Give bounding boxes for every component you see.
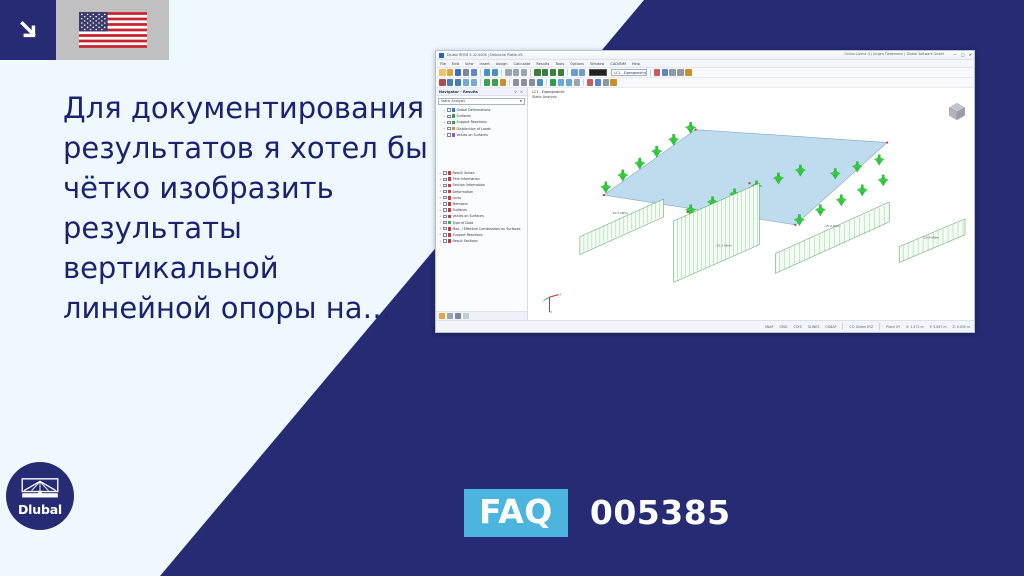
- toolbar-icon-cut[interactable]: [521, 69, 528, 76]
- expander-icon[interactable]: +: [439, 177, 442, 182]
- toolbar-primary[interactable]: LC1 - Eigengewicht: [436, 68, 974, 78]
- diagram-value-2: -15.3 kN/m: [715, 244, 732, 248]
- tree-item-label: Max. / Effective Combination on Surfaces: [453, 227, 521, 231]
- window-titlebar: Dlubal RFEM 5.32.0006 | Detusche Platte.…: [436, 51, 974, 60]
- faq-badge: FAQ: [464, 489, 568, 537]
- tree-item-icon: [448, 202, 452, 206]
- analysis-type-select[interactable]: Static Analysis ▼: [438, 98, 525, 105]
- tree-checkbox[interactable]: [447, 108, 450, 111]
- expander-icon[interactable]: +: [439, 214, 442, 219]
- tree-checkbox[interactable]: [443, 196, 446, 199]
- toolbar-icon-mesh[interactable]: [513, 79, 520, 86]
- tree-checkbox[interactable]: [443, 227, 446, 230]
- expander-icon[interactable]: +: [443, 120, 446, 125]
- diagram-value-1: -10.5 kN/m: [612, 211, 629, 215]
- chevron-down-icon[interactable]: ▼: [520, 99, 522, 103]
- tree-item-icon: [448, 177, 452, 181]
- expander-icon[interactable]: +: [439, 183, 442, 188]
- tree-item-label: Members: [453, 202, 468, 206]
- tree-item-icon: [448, 239, 452, 243]
- diagram-value-3: -15.9 kN/m: [824, 224, 841, 228]
- tree-checkbox[interactable]: [447, 127, 450, 130]
- dlubal-logo: Dlubal: [6, 462, 74, 530]
- toolbar-icon-open[interactable]: [447, 69, 454, 76]
- status-plane: Plane XY: [886, 325, 900, 329]
- tree-item-label: Deformation: [453, 190, 474, 194]
- expander-icon[interactable]: +: [439, 171, 442, 176]
- status-coord-system: CS: Global XYZ: [849, 325, 873, 329]
- faq-footer: FAQ 005385: [464, 489, 731, 537]
- toolbar-icon-isoline[interactable]: [566, 79, 573, 86]
- navigator-tab-results[interactable]: [463, 313, 469, 319]
- tree-item-values-on-surfaces[interactable]: + Values on Surfaces: [439, 132, 527, 138]
- navigator-title: Navigator - Results: [439, 90, 478, 94]
- tree-checkbox[interactable]: [443, 190, 446, 193]
- expander-icon[interactable]: +: [439, 201, 442, 206]
- tree-item-icon: [452, 127, 456, 131]
- analysis-type-value: Static Analysis: [441, 99, 465, 103]
- tree-checkbox[interactable]: [447, 133, 450, 136]
- toolbar-separator: [546, 79, 547, 86]
- tree-item-icon: [448, 208, 452, 212]
- tree-checkbox[interactable]: [443, 208, 446, 211]
- tree-item-result-sections[interactable]: + Result Sections: [439, 238, 527, 244]
- toolbar-separator: [480, 79, 481, 86]
- toolbar-icon-filter[interactable]: [610, 79, 617, 86]
- menu-cadbim[interactable]: CAD/BIM: [610, 62, 626, 66]
- toolbar-icon-undo[interactable]: [484, 69, 491, 76]
- toolbar-icon-isoband[interactable]: [558, 79, 565, 86]
- navigator-tab-views[interactable]: [455, 313, 461, 319]
- menu-insert[interactable]: Insert: [480, 62, 490, 66]
- toolbar-icon-pan[interactable]: [558, 69, 565, 76]
- toolbar-icon-print[interactable]: [463, 69, 470, 76]
- toolbar-icon-measure[interactable]: [537, 79, 544, 86]
- arrow-down-right-icon: [0, 0, 56, 60]
- toolbar-icon-section[interactable]: [521, 79, 528, 86]
- expander-icon[interactable]: +: [443, 132, 446, 137]
- tree-item-icon: [448, 184, 452, 188]
- menu-file[interactable]: File: [440, 62, 446, 66]
- toolbar-icon-zoom-fit[interactable]: [550, 69, 557, 76]
- tree-checkbox[interactable]: [443, 178, 446, 181]
- tree-checkbox[interactable]: [443, 171, 446, 174]
- expander-icon[interactable]: +: [439, 232, 442, 237]
- window-controls[interactable]: — □ ✕: [953, 52, 972, 58]
- menu-assign[interactable]: Assign: [496, 62, 508, 66]
- tree-item-icon: [448, 196, 452, 200]
- menu-calculate[interactable]: Calculate: [514, 62, 531, 66]
- app-body: Navigator - Results ⚲ ✕ Static Analysis …: [436, 88, 974, 320]
- toolbar-icon-values[interactable]: [574, 79, 581, 86]
- svg-text:Y: Y: [542, 300, 544, 304]
- tree-item-icon: [448, 215, 452, 219]
- expander-icon[interactable]: +: [439, 208, 442, 213]
- toolbar-icon-line[interactable]: [447, 79, 454, 86]
- app-icon: [439, 53, 444, 58]
- menu-edit[interactable]: Edit: [452, 62, 459, 66]
- tree-item-icon: [452, 108, 456, 112]
- tree-item-icon: [452, 114, 456, 118]
- toolbar-separator: [509, 79, 510, 86]
- tree-item-label: Result Sections: [453, 239, 478, 243]
- toolbar-separator: [480, 69, 481, 76]
- tree-item-icon: [448, 227, 452, 231]
- toolbar-separator: [530, 69, 531, 76]
- menu-tools[interactable]: Tools: [555, 62, 564, 66]
- maximize-button[interactable]: □: [961, 52, 965, 58]
- menu-results[interactable]: Results: [536, 62, 549, 66]
- status-x: X: 1.472 m: [906, 325, 924, 329]
- truss-frame-icon: [21, 478, 59, 500]
- toolbar-icon-support[interactable]: [484, 79, 491, 86]
- expander-icon[interactable]: +: [443, 108, 446, 113]
- toolbar-icon-layers[interactable]: [685, 69, 692, 76]
- toolbar-separator: [501, 69, 502, 76]
- expander-icon[interactable]: +: [439, 195, 442, 200]
- view-cube-icon[interactable]: [946, 100, 968, 122]
- navigator-panel[interactable]: Navigator - Results ⚲ ✕ Static Analysis …: [436, 88, 528, 320]
- tree-item-label: Surfaces: [457, 114, 471, 118]
- tree-checkbox[interactable]: [447, 121, 450, 124]
- license-label: Online-Lizenz (1) Jürgen Tiedemann | Dlu…: [844, 52, 944, 56]
- toolbar-separator: [650, 69, 651, 76]
- toolbar-icon-snap[interactable]: [677, 69, 684, 76]
- toolbar-icon-surface[interactable]: [463, 79, 470, 86]
- navigator-tab-display[interactable]: [447, 313, 453, 319]
- expander-icon[interactable]: +: [439, 226, 442, 231]
- expander-icon[interactable]: +: [439, 239, 442, 244]
- expander-icon[interactable]: +: [439, 220, 442, 225]
- toolbar-icon-grid[interactable]: [669, 69, 676, 76]
- tree-item-label: Result Values: [453, 171, 475, 175]
- tree-item-label: Lines: [453, 196, 462, 200]
- navigator-tab-strip[interactable]: [436, 311, 527, 320]
- toolbar-icon-paste[interactable]: [513, 69, 520, 76]
- toolbar-icon-printout[interactable]: [595, 79, 602, 86]
- tree-item-label: Global Deformations: [457, 108, 491, 112]
- tree-item-icon: [452, 121, 456, 125]
- toolbar-secondary[interactable]: [436, 78, 974, 88]
- tree-item-icon: [452, 133, 456, 137]
- toolbar-icon-calculate[interactable]: [571, 69, 578, 76]
- loadcase-color-swatch[interactable]: [589, 69, 607, 76]
- menu-options[interactable]: Options: [570, 62, 584, 66]
- toolbar-icon-hinge[interactable]: [492, 79, 499, 86]
- tree-item-label: Surfaces: [453, 208, 467, 212]
- toolbar-icon-node[interactable]: [439, 79, 446, 86]
- flag-usa-icon: [56, 0, 169, 60]
- status-bar[interactable]: SNAP GRID CSYS GLINES OSNAP CS: Global X…: [436, 320, 974, 332]
- status-snap[interactable]: SNAP: [765, 325, 774, 329]
- toolbar-separator: [583, 79, 584, 86]
- menu-help[interactable]: Help: [632, 62, 640, 66]
- navigator-header: Navigator - Results ⚲ ✕: [436, 88, 527, 96]
- tree-item-icon: [448, 233, 452, 237]
- toolbar-icon-display[interactable]: [662, 69, 669, 76]
- structural-model-render[interactable]: -10.5 kN/m: [528, 88, 974, 320]
- tree-checkbox[interactable]: [443, 233, 446, 236]
- toolbar-icon-load[interactable]: [500, 79, 507, 86]
- status-osnap[interactable]: OSNAP: [825, 325, 836, 329]
- status-y: Y: 5.087 m: [930, 325, 947, 329]
- toolbar-icon-member[interactable]: [455, 79, 462, 86]
- menu-bar[interactable]: File Edit View Insert Assign Calculate R…: [436, 60, 974, 68]
- toolbar-icon-zoom-in[interactable]: [534, 69, 541, 76]
- toolbar-icon-render[interactable]: [654, 69, 661, 76]
- toolbar-icon-result-section[interactable]: [587, 79, 594, 86]
- toolbar-icon-results[interactable]: [579, 69, 586, 76]
- expander-icon[interactable]: +: [439, 189, 442, 194]
- slide-canvas: Для документирования результатов я хотел…: [0, 0, 1024, 576]
- svg-text:Z: Z: [550, 310, 552, 314]
- toolbar-icon-zoom-out[interactable]: [542, 69, 549, 76]
- status-grid[interactable]: GRID: [779, 325, 787, 329]
- toolbar-icon-table[interactable]: [603, 79, 610, 86]
- tree-item-label: Support Reactions: [457, 120, 487, 124]
- toolbar-icon-copy[interactable]: [505, 69, 512, 76]
- tree-item-label: Title Information: [453, 177, 480, 181]
- navigator-pin-icons[interactable]: ⚲ ✕: [514, 90, 524, 94]
- tree-item-label: Type of Data: [453, 221, 474, 225]
- tree-item-icon: [448, 221, 452, 225]
- logo-wordmark: Dlubal: [18, 502, 62, 517]
- toolbar-separator: [567, 69, 568, 76]
- minimize-button[interactable]: —: [953, 52, 957, 58]
- expander-icon[interactable]: +: [443, 114, 446, 119]
- status-divider: [879, 323, 880, 330]
- toolbar-icon-deform[interactable]: [550, 79, 557, 86]
- menu-window[interactable]: Window: [590, 62, 604, 66]
- navigator-tree-bottom[interactable]: + Result Values + Title Information +: [436, 169, 527, 245]
- tree-item-label: Values on Surfaces: [457, 133, 488, 137]
- tree-item-label: Support Reactions: [453, 233, 483, 237]
- tree-checkbox[interactable]: [443, 221, 446, 224]
- loadcase-select[interactable]: LC1 - Eigengewicht: [611, 69, 647, 76]
- window-title: Dlubal RFEM 5.32.0006 | Detusche Platte.…: [447, 52, 523, 58]
- tree-item-icon: [448, 190, 452, 194]
- model-viewport[interactable]: LC1 - Eigengewicht Static Analysis: [528, 88, 974, 320]
- menu-view[interactable]: View: [465, 62, 474, 66]
- page-title: Для документирования результатов я хотел…: [63, 88, 433, 328]
- tree-checkbox[interactable]: [443, 202, 446, 205]
- toolbar-icon-solid[interactable]: [471, 79, 478, 86]
- toolbar-icon-new[interactable]: [439, 69, 446, 76]
- distribution-diagram-1: -10.5 kN/m: [580, 199, 664, 255]
- faq-number: 005385: [590, 494, 731, 532]
- svg-text:X: X: [560, 293, 562, 297]
- distribution-diagram-4: -16.4 kN/m: [899, 219, 965, 263]
- toolbar-icon-material[interactable]: [529, 79, 536, 86]
- toolbar-icon-preview[interactable]: [471, 69, 478, 76]
- expander-icon[interactable]: +: [443, 126, 446, 131]
- status-z: Z: 0.000 m: [952, 325, 970, 329]
- tree-checkbox[interactable]: [443, 215, 446, 218]
- status-glines[interactable]: GLINES: [808, 325, 820, 329]
- tree-checkbox[interactable]: [447, 115, 450, 118]
- diagram-value-4: -16.4 kN/m: [923, 236, 940, 240]
- tree-item-label: Distribution of Loads: [457, 127, 491, 131]
- tree-checkbox[interactable]: [443, 239, 446, 242]
- status-csys[interactable]: CSYS: [794, 325, 802, 329]
- status-divider: [842, 323, 843, 330]
- tree-item-icon: [448, 171, 452, 175]
- navigator-tree-top[interactable]: + Global Deformations + Surfaces +: [436, 106, 527, 139]
- rfem-application-window[interactable]: Dlubal RFEM 5.32.0006 | Detusche Platte.…: [435, 50, 975, 333]
- axis-tripod-icon: X Y Z: [542, 292, 562, 314]
- tree-checkbox[interactable]: [443, 184, 446, 187]
- navigator-tab-data[interactable]: [439, 313, 445, 319]
- slide-header: [0, 0, 169, 60]
- tree-item-label: Values on Surfaces: [453, 214, 484, 218]
- toolbar-icon-save[interactable]: [455, 69, 462, 76]
- toolbar-icon-redo[interactable]: [492, 69, 499, 76]
- tree-item-label: Section Information: [453, 183, 485, 187]
- close-button[interactable]: ✕: [969, 52, 972, 58]
